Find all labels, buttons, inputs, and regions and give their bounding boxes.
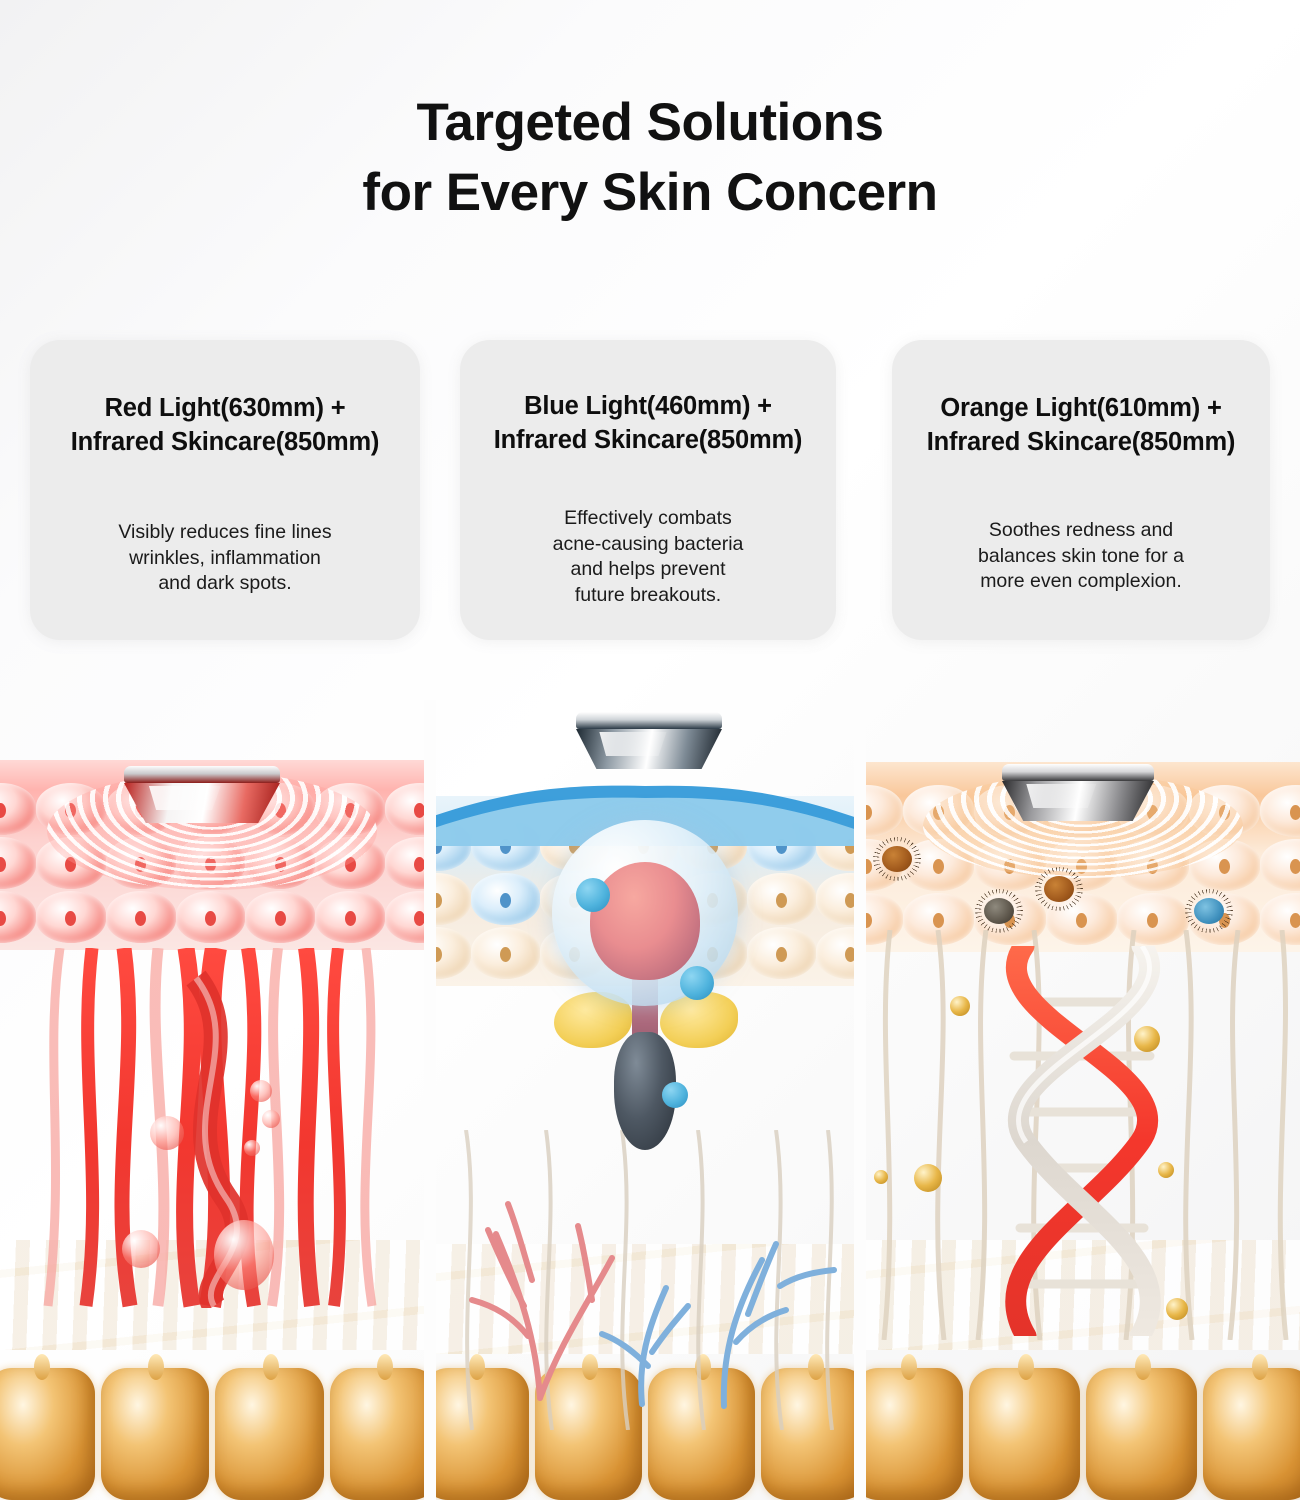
capillary-network bbox=[436, 1130, 854, 1430]
fat-cell bbox=[1086, 1368, 1197, 1500]
card-title-line-2: Infrared Skincare(850mm) bbox=[494, 424, 802, 458]
skin-cell bbox=[816, 927, 854, 979]
page-title-line-2: for Every Skin Concern bbox=[0, 158, 1300, 228]
acne-bacteria-icon bbox=[576, 878, 610, 912]
skin-cell bbox=[816, 873, 854, 925]
fat-cell bbox=[969, 1368, 1080, 1500]
acne-bacteria-icon bbox=[680, 966, 714, 1000]
illustration-panel-blue bbox=[436, 700, 854, 1500]
gold-bead bbox=[950, 996, 970, 1016]
dna-double-helix bbox=[968, 946, 1198, 1336]
card-desc-line-2: balances skin tone for a bbox=[978, 544, 1184, 570]
card-desc-line-4: future breakouts. bbox=[553, 583, 744, 609]
card-title-line-2: Infrared Skincare(850mm) bbox=[927, 426, 1235, 460]
skin-cell bbox=[385, 891, 424, 943]
skin-cell bbox=[36, 891, 106, 943]
gold-bead bbox=[914, 1164, 942, 1192]
illustration-band bbox=[0, 700, 1300, 1500]
skin-cell bbox=[106, 891, 176, 943]
red-bubble bbox=[262, 1110, 280, 1128]
red-bubble-cluster bbox=[214, 1220, 274, 1290]
illustration-panel-red bbox=[0, 700, 424, 1500]
feature-card-blue-light: Blue Light(460mm) + Infrared Skincare(85… bbox=[460, 340, 836, 640]
card-desc-line-3: and helps prevent bbox=[553, 557, 744, 583]
skin-cell bbox=[747, 927, 816, 979]
acne-bacteria-icon bbox=[662, 1082, 688, 1108]
card-desc-line-3: and dark spots. bbox=[118, 571, 331, 597]
sebum-plug bbox=[590, 862, 700, 980]
fat-cell bbox=[215, 1368, 323, 1500]
panel-divider bbox=[424, 700, 436, 1500]
melanin-pigment-spot bbox=[1194, 898, 1224, 924]
fat-cell bbox=[866, 1368, 963, 1500]
blue-device-head-icon bbox=[576, 712, 722, 769]
card-title-orange-light: Orange Light(610mm) + Infrared Skincare(… bbox=[921, 392, 1241, 460]
card-desc-line-2: acne-causing bacteria bbox=[553, 532, 744, 558]
card-title-line-1: Red Light(630mm) + bbox=[71, 392, 379, 426]
orange-device-head-icon bbox=[1002, 764, 1154, 821]
card-title-line-1: Orange Light(610mm) + bbox=[927, 392, 1235, 426]
skin-cell bbox=[866, 785, 903, 837]
feature-card-orange-light: Orange Light(610mm) + Infrared Skincare(… bbox=[892, 340, 1270, 640]
page-title-line-1: Targeted Solutions bbox=[0, 88, 1300, 158]
card-desc-orange-light: Soothes redness and balances skin tone f… bbox=[978, 518, 1184, 595]
card-desc-line-1: Visibly reduces fine lines bbox=[118, 520, 331, 546]
red-bubble bbox=[244, 1140, 260, 1156]
melanin-pigment-spot bbox=[1044, 876, 1074, 902]
skin-cell bbox=[436, 927, 471, 979]
gold-bead bbox=[874, 1170, 888, 1184]
fat-cell bbox=[101, 1368, 209, 1500]
skin-cell bbox=[0, 891, 36, 943]
card-desc-line-2: wrinkles, inflammation bbox=[118, 546, 331, 572]
skin-cell bbox=[385, 837, 424, 889]
page-header: Targeted Solutions for Every Skin Concer… bbox=[0, 88, 1300, 228]
fat-cell bbox=[1203, 1368, 1300, 1500]
skin-cell bbox=[245, 891, 315, 943]
skin-cell bbox=[1260, 785, 1300, 837]
skin-cell bbox=[1260, 839, 1300, 891]
card-title-red-light: Red Light(630mm) + Infrared Skincare(850… bbox=[65, 392, 385, 460]
card-desc-line-1: Effectively combats bbox=[553, 506, 744, 532]
skin-cell bbox=[436, 873, 471, 925]
gold-bead bbox=[1158, 1162, 1174, 1178]
skin-cell bbox=[0, 837, 36, 889]
red-bubble bbox=[250, 1080, 272, 1102]
card-title-line-2: Infrared Skincare(850mm) bbox=[71, 426, 379, 460]
card-desc-line-3: more even complexion. bbox=[978, 569, 1184, 595]
skin-cell bbox=[0, 783, 36, 835]
skin-cell bbox=[176, 891, 246, 943]
fat-cell bbox=[330, 1368, 425, 1500]
red-bubble bbox=[122, 1230, 160, 1268]
gold-bead bbox=[1166, 1298, 1188, 1320]
card-desc-line-1: Soothes redness and bbox=[978, 518, 1184, 544]
red-device-head-icon bbox=[124, 766, 280, 823]
skin-cell bbox=[747, 873, 816, 925]
feature-card-red-light: Red Light(630mm) + Infrared Skincare(850… bbox=[30, 340, 420, 640]
fat-cell-layer-red bbox=[0, 1340, 424, 1500]
red-bubble bbox=[150, 1116, 184, 1150]
skin-cell bbox=[315, 891, 385, 943]
skin-cell bbox=[471, 873, 540, 925]
panel-divider bbox=[854, 700, 866, 1500]
collagen-fiber-bundle bbox=[0, 948, 424, 1308]
melanin-pigment-spot bbox=[882, 846, 912, 872]
fat-cell-layer-orange bbox=[866, 1350, 1300, 1500]
card-title-line-1: Blue Light(460mm) + bbox=[494, 390, 802, 424]
feature-card-row: Red Light(630mm) + Infrared Skincare(850… bbox=[0, 340, 1300, 645]
melanin-pigment-spot bbox=[984, 898, 1014, 924]
skin-cell bbox=[471, 927, 540, 979]
fat-cell bbox=[0, 1368, 95, 1500]
card-title-blue-light: Blue Light(460mm) + Infrared Skincare(85… bbox=[488, 390, 808, 458]
gold-bead bbox=[1134, 1026, 1160, 1052]
card-desc-red-light: Visibly reduces fine lines wrinkles, inf… bbox=[118, 520, 331, 597]
skin-cell bbox=[385, 783, 424, 835]
illustration-panel-orange bbox=[866, 700, 1300, 1500]
card-desc-blue-light: Effectively combats acne-causing bacteri… bbox=[553, 506, 744, 609]
